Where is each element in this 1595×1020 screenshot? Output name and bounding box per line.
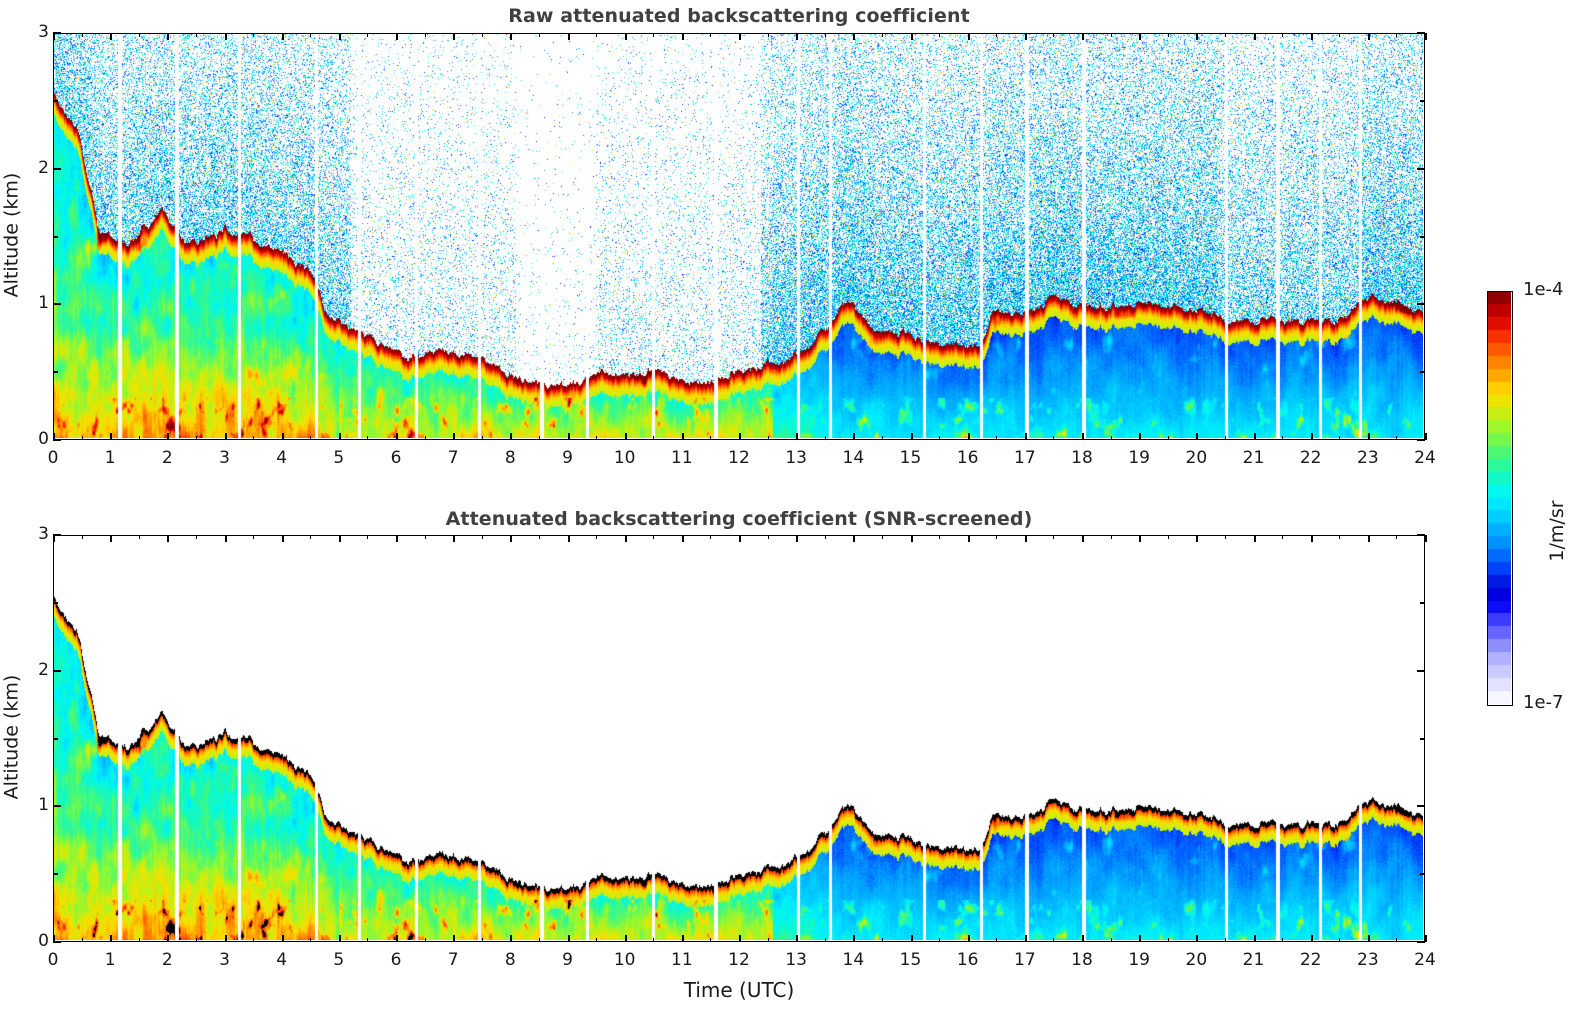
x-tick-major-top — [1139, 535, 1141, 542]
x-tick-minor — [1282, 436, 1283, 440]
x-tick-minor-top — [882, 33, 883, 37]
x-tick-minor — [1111, 436, 1112, 440]
x-tick-label-13: 13 — [776, 950, 816, 970]
x-tick-major-top — [53, 33, 55, 40]
x-tick-minor-top — [939, 33, 940, 37]
x-tick-label-11: 11 — [662, 950, 702, 970]
x-tick-major — [1139, 935, 1141, 942]
x-tick-major — [568, 433, 570, 440]
x-tick-major — [453, 433, 455, 440]
x-tick-minor-top — [1168, 33, 1169, 37]
x-tick-minor — [825, 436, 826, 440]
y-tick-label-2: 2 — [19, 660, 49, 680]
x-tick-major-top — [282, 33, 284, 40]
x-tick-major — [625, 433, 627, 440]
x-tick-major — [853, 433, 855, 440]
x-tick-major-top — [1025, 33, 1027, 40]
x-tick-major — [225, 433, 227, 440]
x-tick-major — [911, 935, 913, 942]
x-tick-major — [1311, 935, 1313, 942]
x-tick-label-23: 23 — [1348, 448, 1388, 468]
x-tick-major — [167, 935, 169, 942]
x-tick-minor — [310, 938, 311, 942]
y-tick-major-right — [1417, 805, 1425, 807]
x-tick-minor — [139, 938, 140, 942]
x-tick-label-17: 17 — [1005, 448, 1045, 468]
x-tick-minor-top — [596, 33, 597, 37]
x-tick-major — [968, 935, 970, 942]
x-tick-minor-top — [367, 33, 368, 37]
x-tick-minor-top — [1396, 535, 1397, 539]
x-tick-minor — [882, 436, 883, 440]
x-tick-minor — [1282, 938, 1283, 942]
x-tick-minor — [710, 436, 711, 440]
x-tick-label-1: 1 — [90, 448, 130, 468]
x-tick-minor-top — [653, 33, 654, 37]
y-tick-label-0: 0 — [19, 429, 49, 449]
x-tick-minor — [253, 938, 254, 942]
x-tick-minor-top — [882, 535, 883, 539]
x-tick-major-top — [796, 535, 798, 542]
x-tick-major — [339, 935, 341, 942]
x-tick-major — [1368, 935, 1370, 942]
x-tick-label-16: 16 — [948, 950, 988, 970]
x-tick-major — [911, 433, 913, 440]
x-tick-label-12: 12 — [719, 950, 759, 970]
x-tick-major — [853, 935, 855, 942]
x-tick-major-top — [453, 535, 455, 542]
x-tick-label-19: 19 — [1119, 448, 1159, 468]
x-tick-label-8: 8 — [490, 950, 530, 970]
x-tick-label-20: 20 — [1176, 950, 1216, 970]
x-tick-minor-top — [196, 33, 197, 37]
x-tick-major-top — [1254, 33, 1256, 40]
x-tick-minor — [196, 436, 197, 440]
y-axis-label-screened: Altitude (km) — [0, 533, 22, 940]
x-tick-label-13: 13 — [776, 448, 816, 468]
x-tick-major — [1025, 935, 1027, 942]
y-tick-major-right — [1417, 670, 1425, 672]
x-tick-major — [110, 433, 112, 440]
y-tick-label-0: 0 — [19, 931, 49, 951]
y-tick-major — [53, 168, 61, 170]
x-tick-major-top — [396, 535, 398, 542]
plot-area-screened[interactable] — [53, 535, 1425, 942]
x-tick-major — [1082, 433, 1084, 440]
y-tick-label-2: 2 — [19, 158, 49, 178]
x-tick-minor-top — [1396, 33, 1397, 37]
x-tick-minor-top — [768, 33, 769, 37]
x-tick-minor — [482, 938, 483, 942]
y-tick-major-right — [1417, 303, 1425, 305]
x-tick-label-15: 15 — [891, 950, 931, 970]
y-tick-minor-right — [1420, 100, 1425, 101]
y-tick-minor — [53, 738, 58, 739]
x-tick-label-21: 21 — [1234, 448, 1274, 468]
x-tick-major — [739, 433, 741, 440]
x-tick-minor — [596, 938, 597, 942]
x-tick-label-21: 21 — [1234, 950, 1274, 970]
x-tick-major-top — [625, 33, 627, 40]
x-tick-minor — [1053, 938, 1054, 942]
x-tick-major-top — [1196, 535, 1198, 542]
x-tick-minor-top — [1111, 535, 1112, 539]
x-tick-major — [1196, 935, 1198, 942]
x-tick-major-top — [453, 33, 455, 40]
heatmap-raw — [54, 34, 1423, 438]
panel-title-screened: Attenuated backscattering coefficient (S… — [53, 508, 1425, 530]
y-tick-major-right — [1417, 168, 1425, 170]
y-tick-minor-right — [1420, 371, 1425, 372]
x-tick-minor-top — [367, 535, 368, 539]
x-tick-major-top — [625, 535, 627, 542]
x-tick-minor — [768, 436, 769, 440]
y-tick-minor — [53, 873, 58, 874]
x-tick-minor — [996, 436, 997, 440]
x-tick-minor-top — [1339, 33, 1340, 37]
x-tick-major — [510, 935, 512, 942]
y-tick-label-3: 3 — [19, 524, 49, 544]
y-tick-minor — [53, 371, 58, 372]
x-tick-label-0: 0 — [33, 448, 73, 468]
x-tick-label-17: 17 — [1005, 950, 1045, 970]
x-tick-minor-top — [253, 535, 254, 539]
x-tick-major — [625, 935, 627, 942]
x-tick-minor — [139, 436, 140, 440]
x-tick-major — [682, 433, 684, 440]
x-tick-major — [796, 433, 798, 440]
x-tick-major — [1254, 433, 1256, 440]
x-tick-minor-top — [996, 33, 997, 37]
x-tick-label-6: 6 — [376, 448, 416, 468]
x-tick-minor-top — [596, 535, 597, 539]
x-tick-label-7: 7 — [433, 448, 473, 468]
x-tick-minor — [939, 436, 940, 440]
x-tick-minor — [367, 938, 368, 942]
x-tick-label-9: 9 — [548, 448, 588, 468]
colorbar-unit-label: 1/m/sr — [1546, 441, 1568, 621]
x-tick-minor — [539, 436, 540, 440]
x-tick-major-top — [682, 535, 684, 542]
x-axis-label: Time (UTC) — [53, 978, 1425, 1002]
y-tick-minor — [53, 100, 58, 101]
y-tick-major — [53, 439, 61, 441]
y-tick-minor — [53, 236, 58, 237]
x-tick-minor-top — [939, 535, 940, 539]
x-tick-label-1: 1 — [90, 950, 130, 970]
y-tick-major-right — [1417, 941, 1425, 943]
colorbar-max-label: 1e-4 — [1523, 279, 1563, 300]
x-tick-major-top — [568, 33, 570, 40]
x-tick-label-11: 11 — [662, 448, 702, 468]
x-tick-label-6: 6 — [376, 950, 416, 970]
x-tick-major-top — [167, 33, 169, 40]
y-tick-minor-right — [1420, 602, 1425, 603]
x-tick-minor — [1339, 436, 1340, 440]
x-tick-label-4: 4 — [262, 950, 302, 970]
x-tick-major-top — [1311, 535, 1313, 542]
x-tick-major — [396, 433, 398, 440]
x-tick-minor — [425, 938, 426, 942]
x-tick-major-top — [339, 535, 341, 542]
x-tick-minor — [1225, 436, 1226, 440]
x-tick-minor — [1168, 436, 1169, 440]
x-tick-label-5: 5 — [319, 448, 359, 468]
x-tick-major-top — [53, 535, 55, 542]
x-tick-major — [110, 935, 112, 942]
x-tick-major-top — [1025, 535, 1027, 542]
x-tick-minor — [1396, 938, 1397, 942]
x-tick-minor — [825, 938, 826, 942]
x-tick-minor-top — [1282, 33, 1283, 37]
colorbar-min-label: 1e-7 — [1523, 692, 1563, 713]
x-tick-minor-top — [82, 33, 83, 37]
x-tick-minor-top — [710, 33, 711, 37]
y-axis-label-raw: Altitude (km) — [0, 31, 22, 438]
x-tick-minor — [653, 938, 654, 942]
x-tick-major — [396, 935, 398, 942]
x-tick-minor-top — [139, 535, 140, 539]
x-tick-label-22: 22 — [1291, 448, 1331, 468]
x-tick-label-5: 5 — [319, 950, 359, 970]
y-tick-label-1: 1 — [19, 795, 49, 815]
x-tick-major-top — [796, 33, 798, 40]
x-tick-major-top — [1082, 535, 1084, 542]
y-tick-major — [53, 941, 61, 943]
x-tick-major-top — [339, 33, 341, 40]
x-tick-major-top — [225, 535, 227, 542]
x-tick-minor — [1225, 938, 1226, 942]
y-tick-label-3: 3 — [19, 22, 49, 42]
x-tick-major-top — [568, 535, 570, 542]
x-tick-minor-top — [310, 535, 311, 539]
heatmap-screened — [54, 536, 1423, 940]
y-tick-major — [53, 670, 61, 672]
plot-area-raw[interactable] — [53, 33, 1425, 440]
x-tick-major — [510, 433, 512, 440]
x-tick-major-top — [225, 33, 227, 40]
x-tick-label-14: 14 — [833, 448, 873, 468]
x-tick-major — [225, 935, 227, 942]
x-tick-major-top — [1196, 33, 1198, 40]
x-tick-minor-top — [82, 535, 83, 539]
x-tick-minor — [1396, 436, 1397, 440]
x-tick-major-top — [1139, 33, 1141, 40]
x-tick-major — [1025, 433, 1027, 440]
x-tick-label-4: 4 — [262, 448, 302, 468]
x-tick-label-2: 2 — [147, 950, 187, 970]
x-tick-major-top — [911, 33, 913, 40]
x-tick-minor-top — [1225, 33, 1226, 37]
x-tick-major — [1425, 433, 1427, 440]
x-tick-major — [568, 935, 570, 942]
x-tick-major-top — [110, 535, 112, 542]
panel-title-raw: Raw attenuated backscattering coefficien… — [53, 5, 1425, 27]
x-tick-major — [453, 935, 455, 942]
x-tick-minor-top — [1053, 33, 1054, 37]
x-tick-major-top — [1425, 535, 1427, 542]
x-tick-label-18: 18 — [1062, 950, 1102, 970]
x-tick-label-24: 24 — [1405, 448, 1445, 468]
x-tick-label-8: 8 — [490, 448, 530, 468]
x-tick-label-22: 22 — [1291, 950, 1331, 970]
x-tick-minor-top — [482, 33, 483, 37]
x-tick-major-top — [968, 33, 970, 40]
x-tick-minor-top — [196, 535, 197, 539]
x-tick-minor — [482, 436, 483, 440]
x-tick-label-9: 9 — [548, 950, 588, 970]
x-tick-major-top — [1425, 33, 1427, 40]
x-tick-major — [1196, 433, 1198, 440]
x-tick-minor — [1111, 938, 1112, 942]
x-tick-major-top — [853, 33, 855, 40]
x-tick-minor — [1168, 938, 1169, 942]
x-tick-minor-top — [653, 535, 654, 539]
x-tick-major-top — [911, 535, 913, 542]
y-tick-major-right — [1417, 534, 1425, 536]
x-tick-major — [1082, 935, 1084, 942]
x-tick-major — [282, 433, 284, 440]
x-tick-major — [1254, 935, 1256, 942]
x-tick-major-top — [968, 535, 970, 542]
x-tick-major-top — [853, 535, 855, 542]
x-tick-label-16: 16 — [948, 448, 988, 468]
x-tick-minor-top — [482, 535, 483, 539]
x-tick-minor — [82, 938, 83, 942]
x-tick-minor-top — [1111, 33, 1112, 37]
x-tick-minor — [996, 938, 997, 942]
x-tick-label-3: 3 — [205, 950, 245, 970]
x-tick-major-top — [1368, 535, 1370, 542]
x-tick-label-24: 24 — [1405, 950, 1445, 970]
x-tick-major-top — [1311, 33, 1313, 40]
x-tick-minor — [196, 938, 197, 942]
x-tick-minor-top — [710, 535, 711, 539]
x-tick-minor — [768, 938, 769, 942]
colorbar[interactable] — [1487, 291, 1513, 706]
x-tick-minor — [882, 938, 883, 942]
x-tick-major-top — [1254, 535, 1256, 542]
x-tick-minor-top — [1225, 535, 1226, 539]
x-tick-minor — [253, 436, 254, 440]
y-tick-major — [53, 534, 61, 536]
x-tick-major — [682, 935, 684, 942]
x-tick-label-7: 7 — [433, 950, 473, 970]
x-tick-label-23: 23 — [1348, 950, 1388, 970]
x-tick-major — [968, 433, 970, 440]
x-tick-major — [1139, 433, 1141, 440]
x-tick-minor — [653, 436, 654, 440]
x-tick-major-top — [396, 33, 398, 40]
x-tick-major — [1311, 433, 1313, 440]
x-tick-label-2: 2 — [147, 448, 187, 468]
x-tick-minor-top — [825, 33, 826, 37]
x-tick-label-10: 10 — [605, 950, 645, 970]
x-tick-minor — [1339, 938, 1340, 942]
y-tick-minor-right — [1420, 236, 1425, 237]
x-tick-major-top — [1368, 33, 1370, 40]
x-tick-major-top — [739, 535, 741, 542]
x-tick-minor-top — [539, 535, 540, 539]
x-tick-label-15: 15 — [891, 448, 931, 468]
x-tick-label-19: 19 — [1119, 950, 1159, 970]
x-tick-minor-top — [310, 33, 311, 37]
x-tick-minor-top — [1053, 535, 1054, 539]
x-tick-minor — [425, 436, 426, 440]
y-tick-major-right — [1417, 439, 1425, 441]
x-tick-label-0: 0 — [33, 950, 73, 970]
x-tick-minor-top — [1339, 535, 1340, 539]
y-tick-major-right — [1417, 32, 1425, 34]
x-tick-minor-top — [825, 535, 826, 539]
x-tick-minor — [939, 938, 940, 942]
x-tick-minor — [539, 938, 540, 942]
x-tick-major — [282, 935, 284, 942]
x-tick-minor — [310, 436, 311, 440]
y-tick-minor-right — [1420, 873, 1425, 874]
x-tick-label-20: 20 — [1176, 448, 1216, 468]
x-tick-minor-top — [539, 33, 540, 37]
x-tick-major — [739, 935, 741, 942]
x-tick-major-top — [110, 33, 112, 40]
y-tick-label-1: 1 — [19, 293, 49, 313]
x-tick-major-top — [510, 535, 512, 542]
x-tick-major-top — [167, 535, 169, 542]
x-tick-minor-top — [1282, 535, 1283, 539]
figure-canvas: Raw attenuated backscattering coefficien… — [0, 0, 1595, 1020]
x-tick-major — [167, 433, 169, 440]
x-tick-minor-top — [768, 535, 769, 539]
y-tick-minor-right — [1420, 738, 1425, 739]
y-tick-major — [53, 32, 61, 34]
x-tick-minor — [367, 436, 368, 440]
x-tick-label-18: 18 — [1062, 448, 1102, 468]
x-tick-label-12: 12 — [719, 448, 759, 468]
x-tick-minor — [82, 436, 83, 440]
x-tick-minor-top — [253, 33, 254, 37]
x-tick-minor-top — [1168, 535, 1169, 539]
y-tick-minor — [53, 602, 58, 603]
x-tick-minor — [710, 938, 711, 942]
x-tick-major — [339, 433, 341, 440]
x-tick-major — [1368, 433, 1370, 440]
x-tick-minor-top — [425, 33, 426, 37]
x-tick-minor-top — [996, 535, 997, 539]
x-tick-major-top — [1082, 33, 1084, 40]
x-tick-major — [796, 935, 798, 942]
colorbar-gradient — [1488, 292, 1511, 704]
x-tick-major — [1425, 935, 1427, 942]
x-tick-major-top — [682, 33, 684, 40]
x-tick-label-3: 3 — [205, 448, 245, 468]
x-tick-label-10: 10 — [605, 448, 645, 468]
x-tick-major-top — [510, 33, 512, 40]
y-tick-major — [53, 805, 61, 807]
x-tick-major-top — [739, 33, 741, 40]
x-tick-minor-top — [139, 33, 140, 37]
x-tick-label-14: 14 — [833, 950, 873, 970]
x-tick-minor-top — [425, 535, 426, 539]
x-tick-major-top — [282, 535, 284, 542]
x-tick-minor — [1053, 436, 1054, 440]
y-tick-major — [53, 303, 61, 305]
x-tick-minor — [596, 436, 597, 440]
